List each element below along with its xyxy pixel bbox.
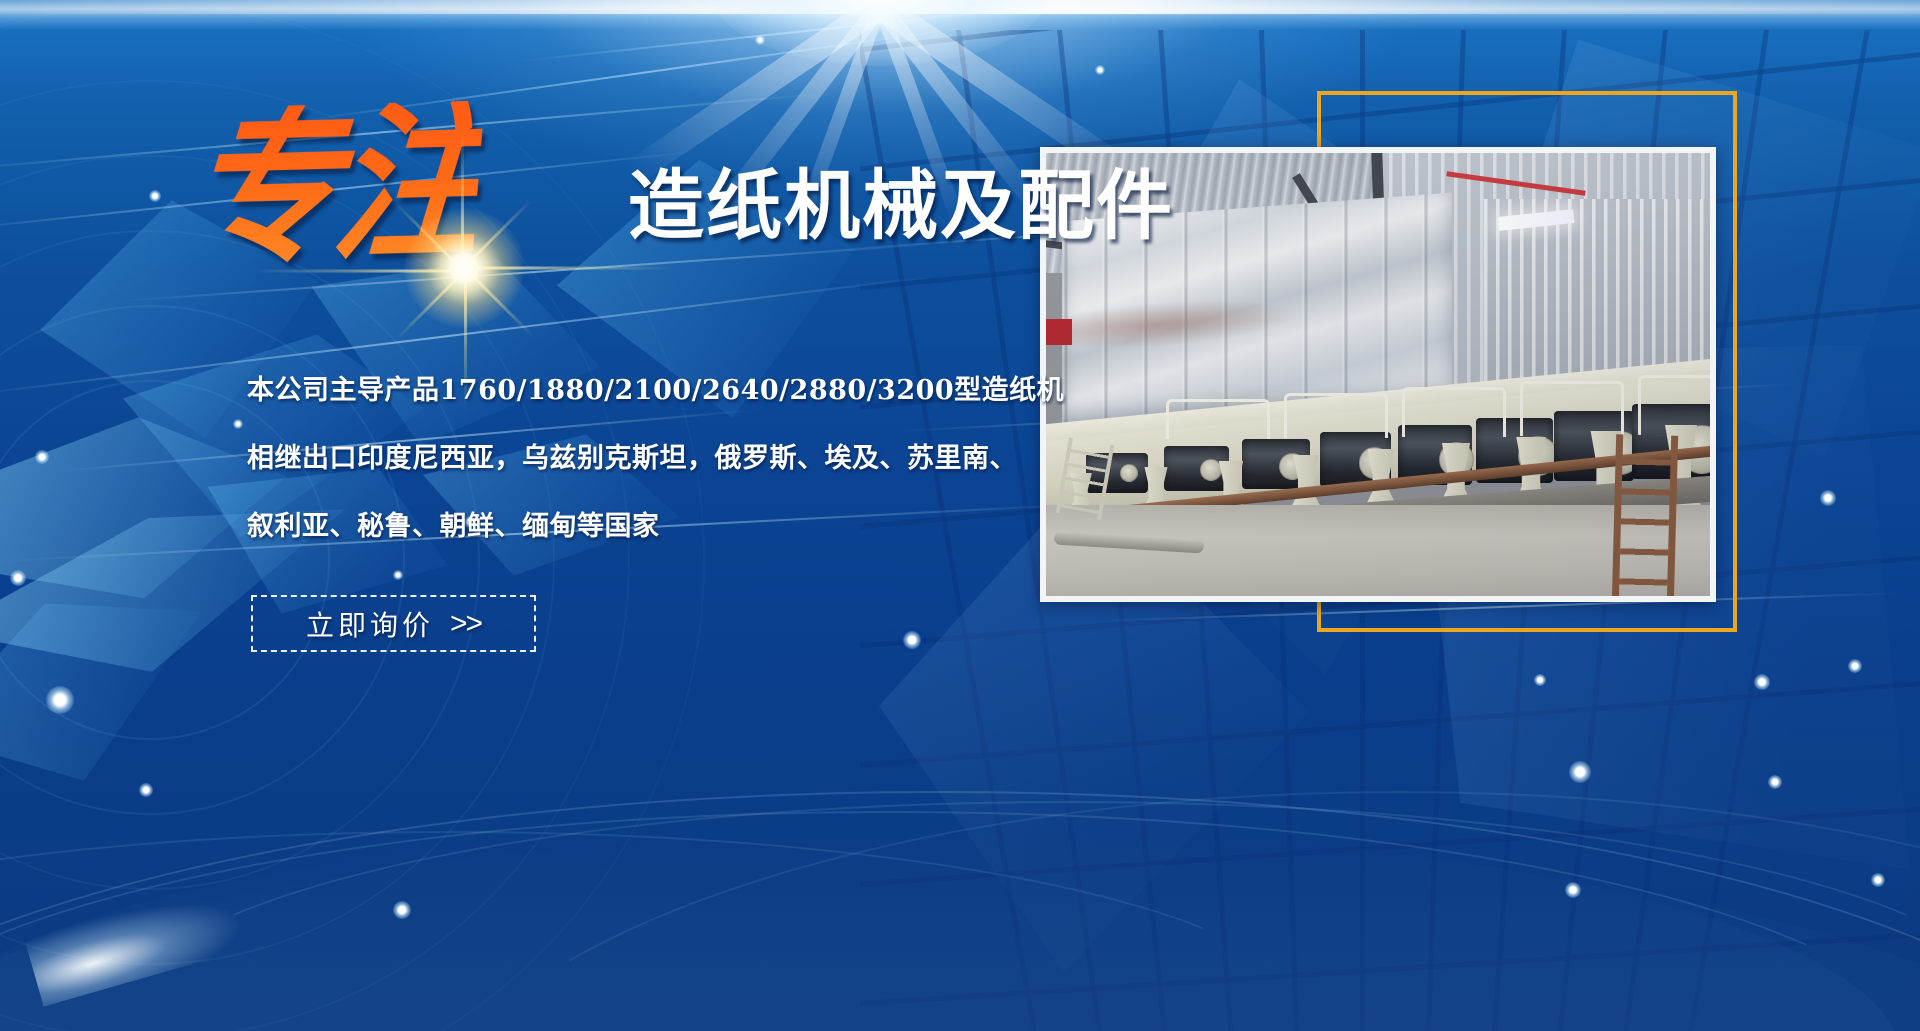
sparkle-dot: [1569, 761, 1591, 783]
headline-group: 专注 造纸机械及配件: [196, 108, 1026, 288]
hero-banner: 专注 造纸机械及配件 本公司主导产品1760/1880/2100/2640/28…: [0, 0, 1920, 1031]
description-line: 相继出口印度尼西亚，乌兹别克斯坦，俄罗斯、埃及、苏里南、: [247, 436, 1007, 475]
sparkle-dot: [1754, 674, 1770, 690]
sparkle-dot: [1565, 882, 1581, 898]
headline-title: 造纸机械及配件: [628, 168, 1174, 244]
inquiry-button-label: 立即询价: [306, 604, 434, 644]
description-line: 本公司主导产品1760/1880/2100/2640/2880/3200型造纸机: [247, 368, 1007, 407]
inquiry-button[interactable]: 立即询价 >>: [251, 595, 536, 652]
sparkle-dot: [1768, 775, 1782, 789]
sparkle-dot: [1848, 659, 1862, 673]
sparkle-dot: [1534, 674, 1546, 686]
banner-content: 专注 造纸机械及配件 本公司主导产品1760/1880/2100/2640/28…: [0, 0, 1040, 1031]
sparkle-dot: [1095, 65, 1105, 75]
chevron-right-double-icon: >>: [450, 607, 481, 641]
sparkle-dot: [1871, 873, 1885, 887]
sparkle-dot: [1820, 490, 1836, 506]
description-line: 叙利亚、秘鲁、朝鲜、缅甸等国家: [247, 504, 1007, 543]
banner-description: 本公司主导产品1760/1880/2100/2640/2880/3200型造纸机…: [247, 368, 1007, 543]
